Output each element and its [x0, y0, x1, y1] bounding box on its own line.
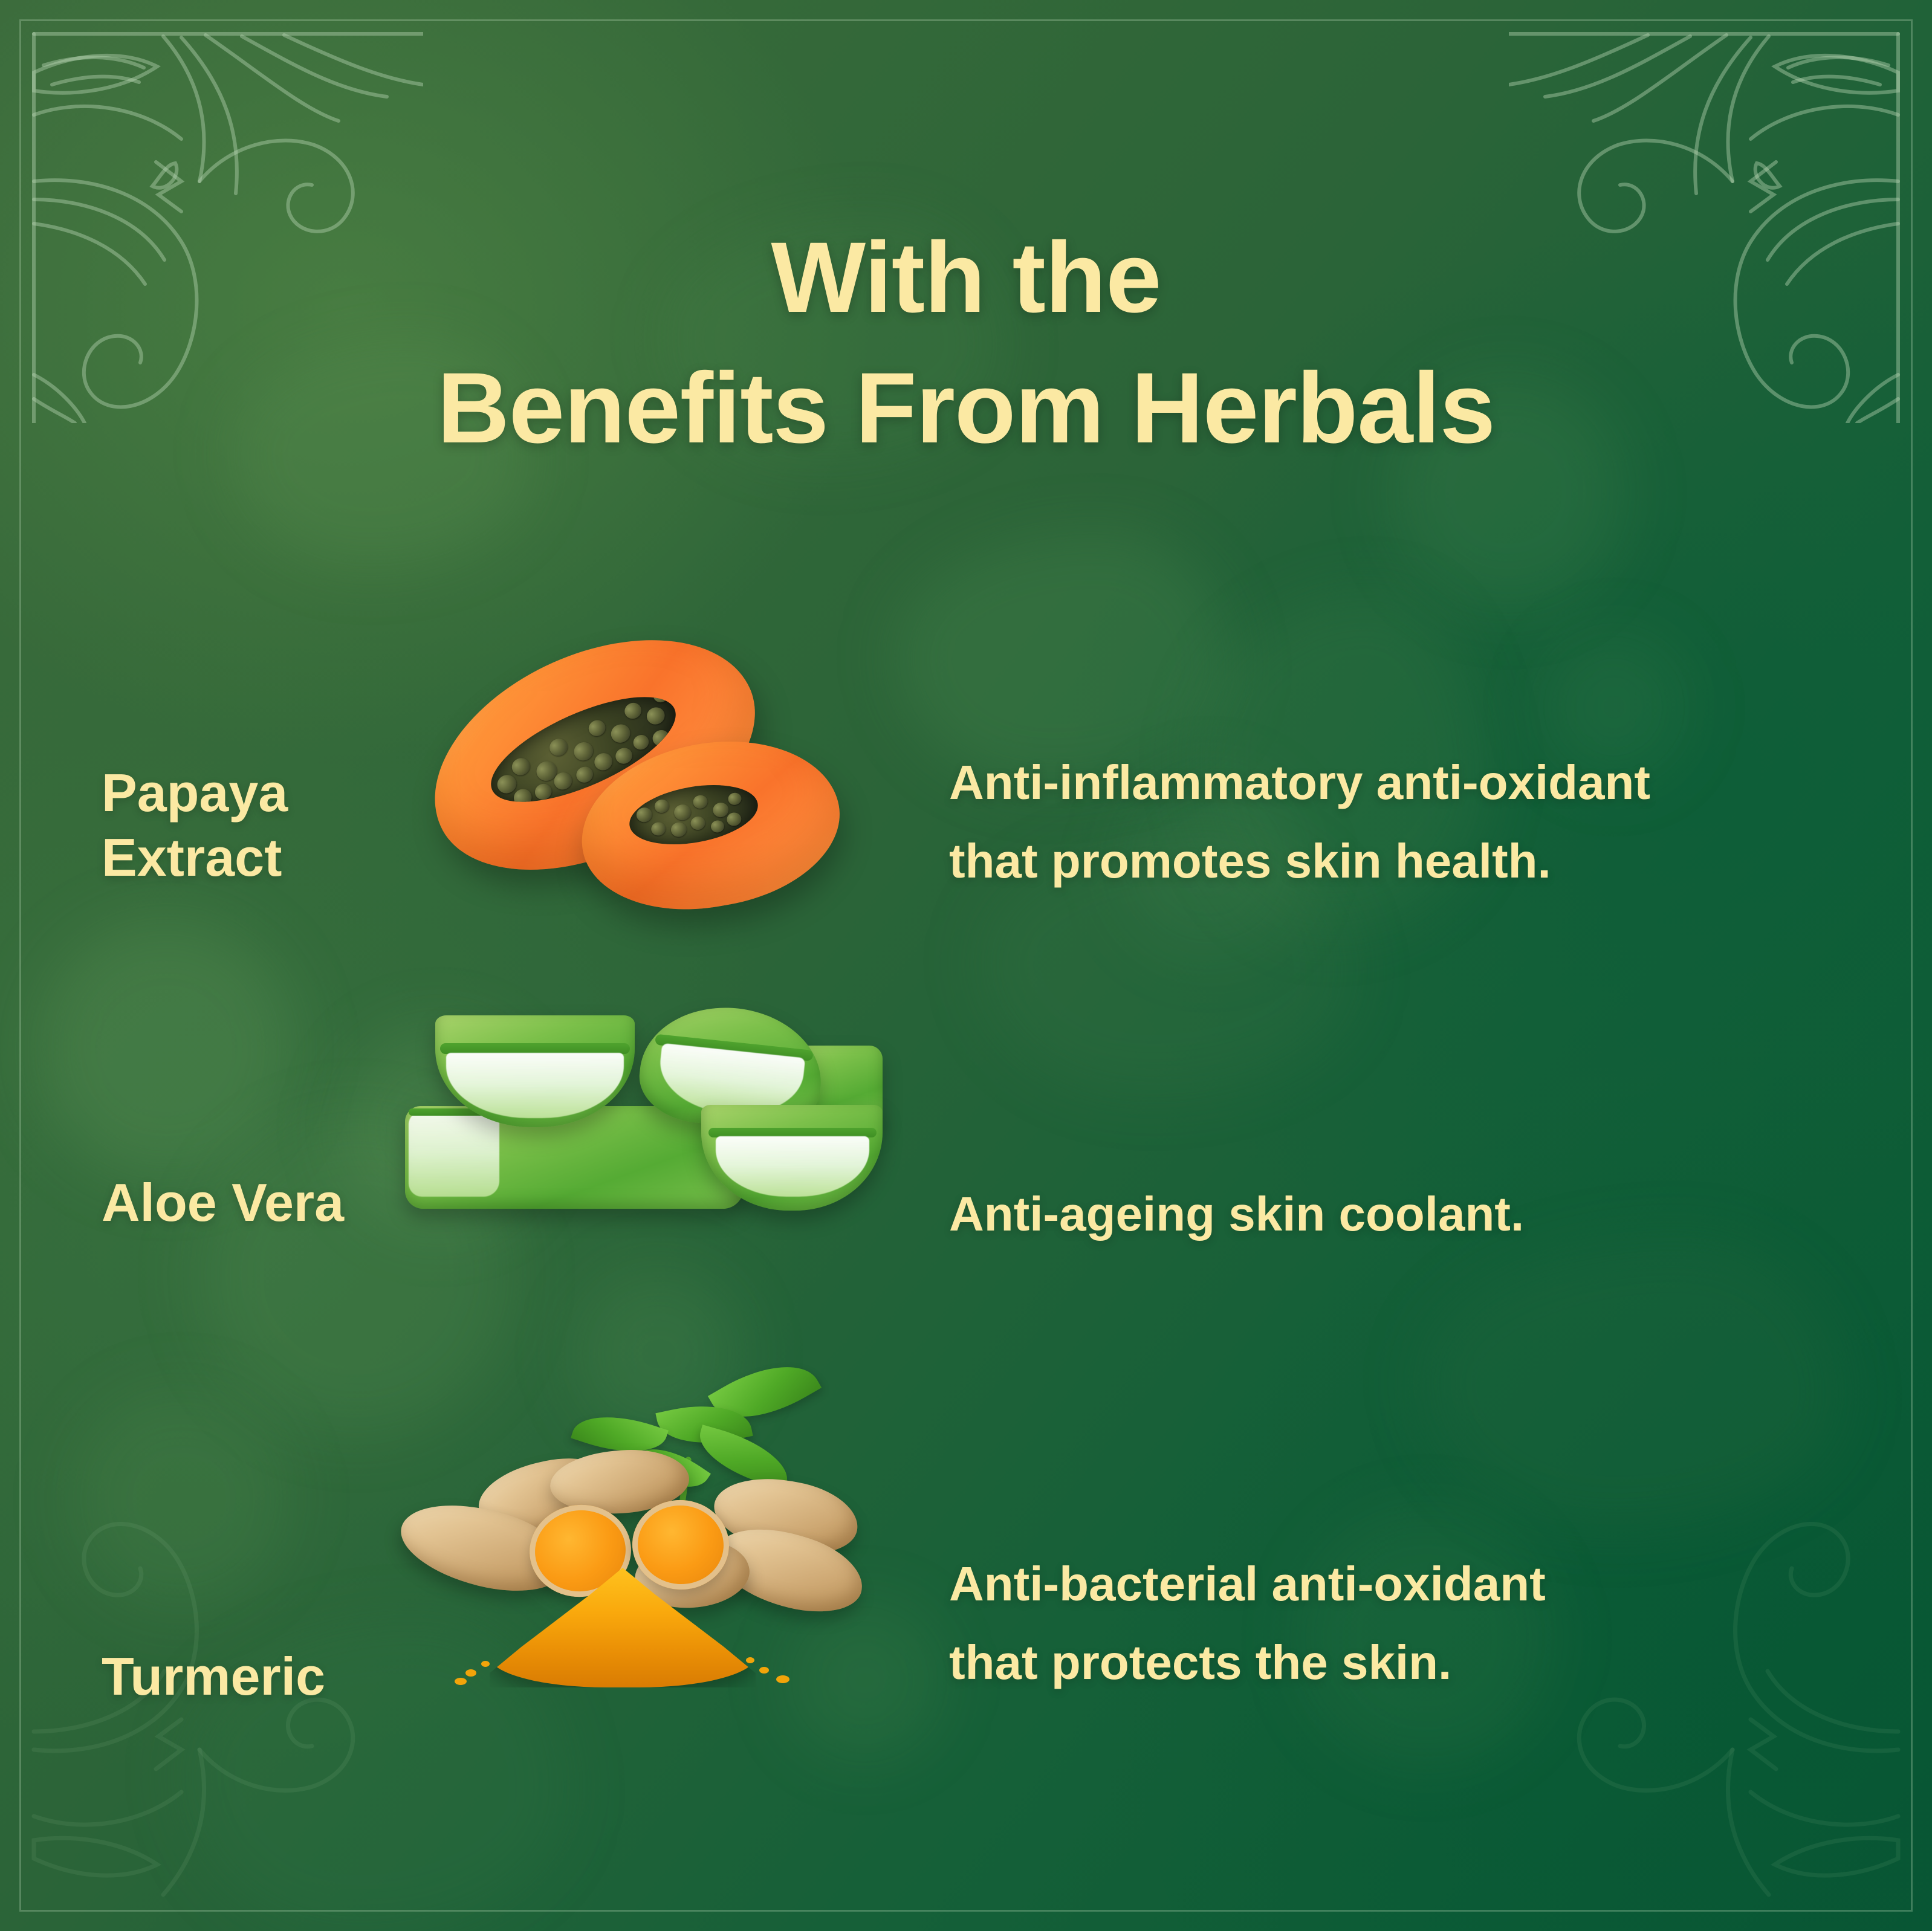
- ingredient-name-line-1: Papaya: [102, 763, 288, 823]
- papaya-seed-cavity-back: [625, 776, 763, 853]
- ingredient-description-line-1: Anti-inflammatory anti-oxidant: [949, 755, 1650, 809]
- ingredient-name-line-2: Extract: [102, 827, 282, 887]
- ingredient-description-line-2: that promotes skin health.: [949, 834, 1551, 888]
- papaya-half-back: [568, 722, 852, 928]
- papaya-halves-image: [417, 623, 804, 937]
- ingredient-description-aloe-vera: Anti-ageing skin coolant.: [949, 1175, 1868, 1253]
- ingredient-description-papaya: Anti-inflammatory anti-oxidant that prom…: [949, 743, 1868, 900]
- page-title: With the Benefits From Herbals: [0, 213, 1932, 474]
- list-item: Aloe Vera: [0, 1040, 1932, 1438]
- ingredient-description-line-2: that protects the skin.: [949, 1635, 1451, 1689]
- list-item: Turmeric: [0, 1438, 1932, 1837]
- page-title-line-2: Benefits From Herbals: [0, 343, 1932, 474]
- papaya-half-front: [398, 594, 789, 913]
- ingredient-name-line-1: Aloe Vera: [102, 1173, 344, 1232]
- ingredient-list: Papaya Extract: [0, 641, 1932, 1837]
- ingredient-description-line-1: Anti-bacterial anti-oxidant: [949, 1557, 1546, 1611]
- ingredient-description-line-1: Anti-ageing skin coolant.: [949, 1187, 1524, 1241]
- herbal-benefits-poster: With the Benefits From Herbals Papaya Ex…: [0, 0, 1932, 1931]
- ingredient-description-turmeric: Anti-bacterial anti-oxidant that protect…: [949, 1545, 1868, 1701]
- list-item: Papaya Extract: [0, 641, 1932, 1040]
- ingredient-name-turmeric: Turmeric: [102, 1644, 440, 1709]
- ingredient-name-line-1: Turmeric: [102, 1646, 325, 1706]
- ingredient-name-papaya: Papaya Extract: [102, 760, 440, 890]
- ingredient-name-aloe-vera: Aloe Vera: [102, 1170, 440, 1235]
- page-title-line-1: With the: [0, 213, 1932, 343]
- papaya-seed-cavity-front: [478, 676, 689, 823]
